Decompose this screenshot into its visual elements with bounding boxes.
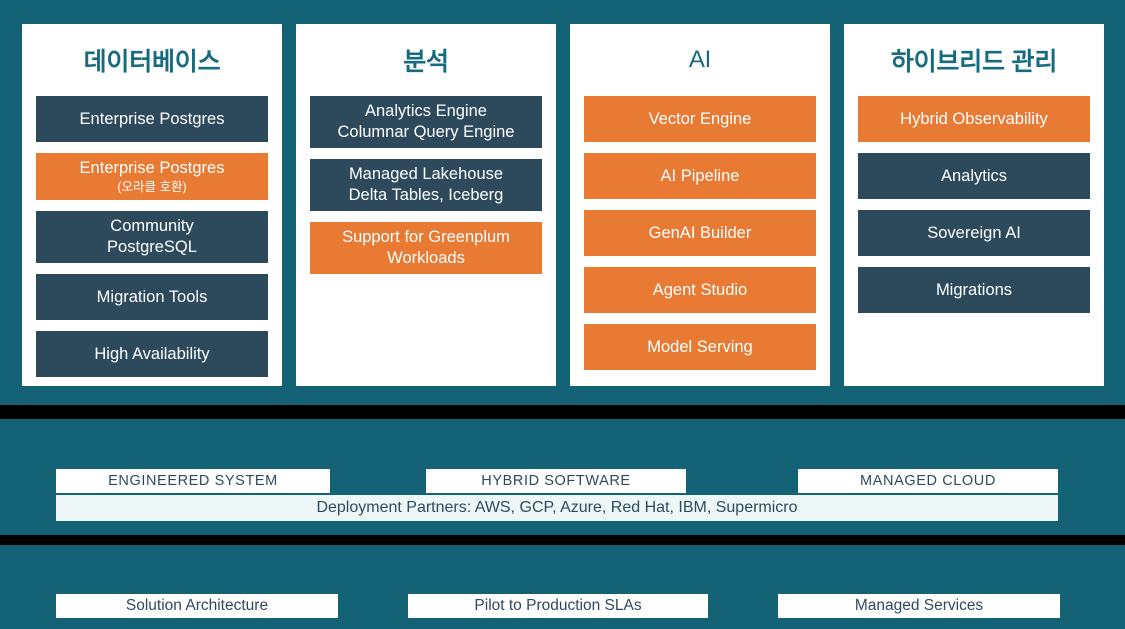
tile-label: Vector Engine: [649, 109, 752, 130]
chip-label: ENGINEERED SYSTEM: [108, 473, 278, 489]
chip-managed-cloud[interactable]: MANAGED CLOUD: [798, 469, 1058, 493]
chip-label: HYBRID SOFTWARE: [481, 473, 630, 489]
services-band: Solution Architecture Pilot to Productio…: [0, 545, 1125, 629]
delivery-model-band: ENGINEERED SYSTEM HYBRID SOFTWARE MANAGE…: [0, 419, 1125, 535]
tile-community-postgresql[interactable]: Community PostgreSQL: [36, 211, 268, 263]
capabilities-band: 데이터베이스 Enterprise Postgres Enterprise Po…: [0, 0, 1125, 405]
tile-label: Sovereign AI: [927, 223, 1021, 244]
tile-label: AI Pipeline: [661, 166, 740, 187]
tile-label: Support for Greenplum: [342, 227, 510, 248]
chip-label: MANAGED CLOUD: [860, 473, 996, 489]
capability-card-ai[interactable]: AI Vector Engine AI Pipeline GenAI Build…: [570, 24, 830, 386]
tile-analytics[interactable]: Analytics: [858, 153, 1090, 199]
capability-card-analytics[interactable]: 분석 Analytics Engine Columnar Query Engin…: [296, 24, 556, 386]
tile-enterprise-postgres[interactable]: Enterprise Postgres: [36, 96, 268, 142]
chip-solution-architecture[interactable]: Solution Architecture: [56, 594, 338, 618]
tile-analytics-engine[interactable]: Analytics Engine Columnar Query Engine: [310, 96, 542, 148]
capability-card-hybrid-management[interactable]: 하이브리드 관리 Hybrid Observability Analytics …: [844, 24, 1104, 386]
tile-migrations[interactable]: Migrations: [858, 267, 1090, 313]
tile-label: Model Serving: [647, 337, 752, 358]
tile-sublabel: (오라클 호환): [117, 179, 186, 195]
deployment-partners-label: Deployment Partners: AWS, GCP, Azure, Re…: [316, 499, 797, 517]
tile-label: Agent Studio: [653, 280, 748, 301]
tile-vector-engine[interactable]: Vector Engine: [584, 96, 816, 142]
tile-list: Analytics Engine Columnar Query Engine M…: [310, 96, 542, 274]
chip-pilot-to-production-slas[interactable]: Pilot to Production SLAs: [408, 594, 708, 618]
tile-list: Vector Engine AI Pipeline GenAI Builder …: [584, 96, 816, 370]
tile-label: Analytics Engine: [365, 101, 487, 122]
tile-label: Managed Lakehouse: [349, 164, 503, 185]
chip-managed-services[interactable]: Managed Services: [778, 594, 1060, 618]
tile-label: High Availability: [94, 344, 209, 365]
chip-label: Pilot to Production SLAs: [474, 597, 641, 615]
tile-high-availability[interactable]: High Availability: [36, 331, 268, 377]
tile-label-line2: Delta Tables, Iceberg: [349, 185, 504, 206]
tile-enterprise-postgres-oracle-compatible[interactable]: Enterprise Postgres (오라클 호환): [36, 153, 268, 200]
tile-support-for-greenplum-workloads[interactable]: Support for Greenplum Workloads: [310, 222, 542, 274]
tile-label: Enterprise Postgres: [80, 109, 225, 130]
chip-label: Managed Services: [855, 597, 983, 615]
chip-hybrid-software[interactable]: HYBRID SOFTWARE: [426, 469, 686, 493]
tile-label-line2: Workloads: [387, 248, 465, 269]
tile-list: Enterprise Postgres Enterprise Postgres …: [36, 96, 268, 377]
tile-sovereign-ai[interactable]: Sovereign AI: [858, 210, 1090, 256]
tile-list: Hybrid Observability Analytics Sovereign…: [858, 96, 1090, 313]
tile-genai-builder[interactable]: GenAI Builder: [584, 210, 816, 256]
tile-model-serving[interactable]: Model Serving: [584, 324, 816, 370]
tile-ai-pipeline[interactable]: AI Pipeline: [584, 153, 816, 199]
tile-label: Migration Tools: [97, 287, 208, 308]
chip-label: Solution Architecture: [126, 597, 268, 615]
tile-label: Community: [110, 216, 193, 237]
tile-label-line2: Columnar Query Engine: [337, 122, 514, 143]
chip-engineered-system[interactable]: ENGINEERED SYSTEM: [56, 469, 330, 493]
diagram-root: 데이터베이스 Enterprise Postgres Enterprise Po…: [0, 0, 1125, 629]
tile-managed-lakehouse[interactable]: Managed Lakehouse Delta Tables, Iceberg: [310, 159, 542, 211]
tile-label: Enterprise Postgres: [80, 158, 225, 179]
card-title: 데이터베이스: [36, 24, 268, 96]
tile-label: Analytics: [941, 166, 1007, 187]
tile-migration-tools[interactable]: Migration Tools: [36, 274, 268, 320]
tile-label-line2: PostgreSQL: [107, 237, 197, 258]
tile-hybrid-observability[interactable]: Hybrid Observability: [858, 96, 1090, 142]
tile-label: GenAI Builder: [649, 223, 752, 244]
capability-card-row: 데이터베이스 Enterprise Postgres Enterprise Po…: [22, 24, 1104, 386]
tile-agent-studio[interactable]: Agent Studio: [584, 267, 816, 313]
tile-label: Migrations: [936, 280, 1012, 301]
card-title: 분석: [310, 24, 542, 96]
delivery-model-chip-row: ENGINEERED SYSTEM HYBRID SOFTWARE MANAGE…: [0, 469, 1125, 493]
capability-card-database[interactable]: 데이터베이스 Enterprise Postgres Enterprise Po…: [22, 24, 282, 386]
deployment-partners-bar[interactable]: Deployment Partners: AWS, GCP, Azure, Re…: [56, 495, 1058, 521]
card-title: 하이브리드 관리: [858, 24, 1090, 96]
tile-label: Hybrid Observability: [900, 109, 1048, 130]
card-title: AI: [584, 24, 816, 96]
